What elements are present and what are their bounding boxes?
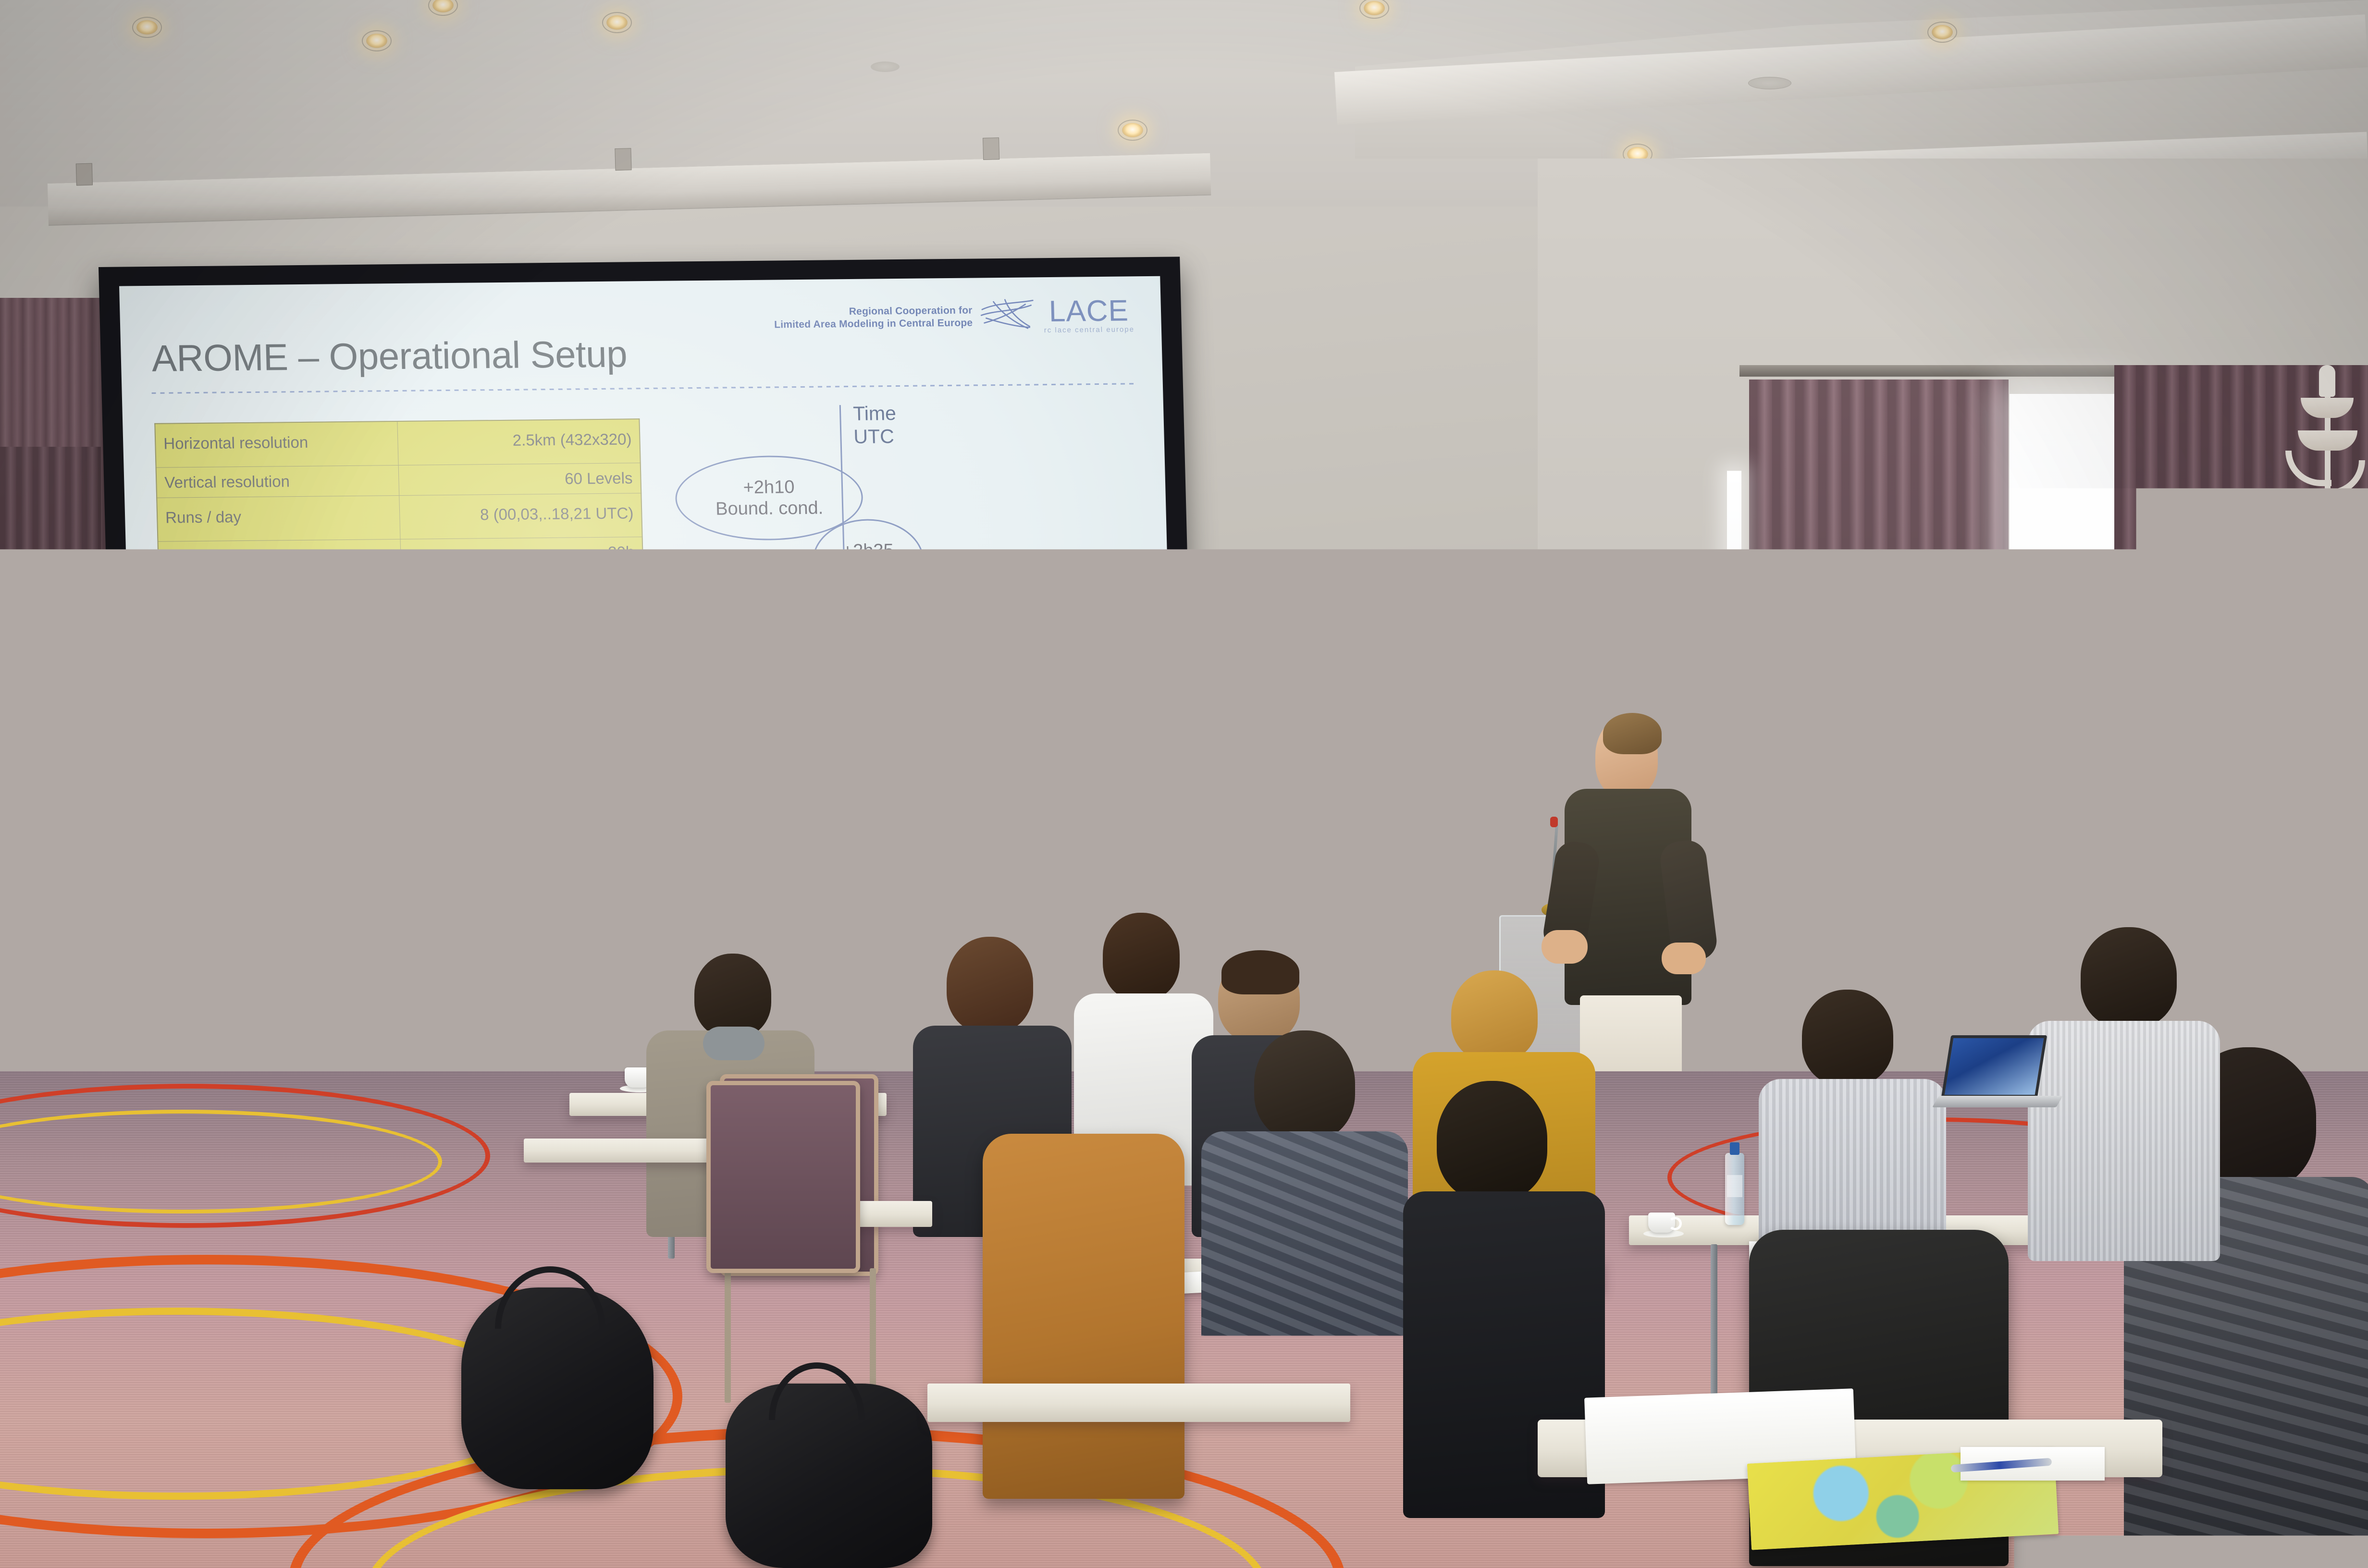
slide: Regional Cooperation for Limited Area Mo… [119, 276, 1177, 961]
spec-value: 30h [400, 537, 643, 570]
specs-table-body: Horizontal resolution 2.5km (432x320) Ve… [155, 419, 647, 723]
presenter-hand [1542, 930, 1588, 964]
person-head [2081, 927, 2177, 1028]
node-label: DA [774, 612, 800, 634]
table-row: Assimilation 3DVAR / OI [161, 688, 647, 723]
person-head [1437, 1081, 1547, 1201]
laptop-screen [1941, 1035, 2047, 1098]
footer-divider [164, 891, 1148, 902]
node-time: +2h10 [743, 477, 795, 498]
person-collar [703, 1027, 765, 1060]
node-label: Bound. cond. [715, 497, 824, 519]
ceiling-downlight [432, 0, 454, 12]
screen-bracket [983, 137, 999, 160]
lace-wordmark: LACE [1048, 297, 1129, 325]
table-row: Coupling update 3h or 1h [161, 658, 646, 693]
audience-table [927, 1384, 1350, 1422]
person-head [947, 937, 1033, 1033]
event-title: 24th ALADIN Workshop & HIRLAM All Staff … [234, 906, 481, 948]
person-hair [1221, 950, 1299, 994]
lace-tagline-line1: Regional Cooperation for [774, 305, 973, 319]
chandelier-bowl [2301, 398, 2354, 418]
event-title-line1: 24th ALADIN Workshop & HIRLAM [234, 907, 481, 927]
chair-leg [725, 1268, 731, 1403]
spec-key: Vertical resolution [156, 465, 399, 498]
ceiling-downlight [1122, 123, 1143, 137]
drawer-handle[interactable] [1778, 891, 1836, 894]
presenter-hair [1603, 713, 1662, 754]
exit-running-man-icon [1587, 593, 1599, 609]
laptop-open[interactable] [1946, 1035, 2057, 1107]
lace-logo-tagline: Regional Cooperation for Limited Area Mo… [774, 305, 973, 331]
spec-key: Horizontal resolution [155, 421, 398, 467]
chandelier-arm [2319, 460, 2365, 496]
node-time: +2h35 [842, 540, 894, 562]
title-divider [152, 383, 1136, 394]
table-row: Vertical resolution 60 Levels [156, 463, 641, 498]
spec-key: Coupling model [160, 630, 403, 662]
person-head [1254, 1030, 1355, 1141]
node-time: +2h45 [761, 591, 813, 612]
partner-logo-4-icon [985, 901, 1007, 923]
timeline-diagram: Time UTC +2h10 Bound. cond. +2h35 OBS +2… [670, 403, 1047, 858]
person-head [694, 954, 771, 1038]
projection-screen: Regional Cooperation for Limited Area Mo… [99, 257, 1198, 982]
spec-value: 2.5km (432x320) [397, 419, 640, 465]
spec-key: Coupling update [161, 660, 404, 693]
ceiling-downlight [1932, 25, 1953, 39]
ceiling-downlight [136, 20, 158, 35]
spec-key: Forecast Range [158, 539, 401, 572]
antenna-icon [1828, 814, 1830, 841]
partner-logo-1-icon [884, 902, 906, 924]
ceiling-vent [1748, 77, 1791, 89]
event-title-line2: All Staff Meeting 2014, Bucharest [234, 927, 470, 947]
spec-value: 60 Levels [398, 463, 641, 496]
node-label: Integration [865, 666, 952, 688]
laptop-keyboard[interactable] [1932, 1096, 2063, 1107]
person-head [1103, 913, 1180, 1000]
table-row: Runs / day 8 (00,03,..18,21 UTC) [157, 493, 642, 542]
water-bottle[interactable] [1725, 1153, 1744, 1225]
play-triangle-icon [165, 914, 178, 930]
smoke-detector-icon [871, 61, 900, 72]
audience-chair[interactable] [706, 1081, 860, 1273]
partner-logo-2-icon [917, 902, 940, 924]
person-head [1451, 970, 1538, 1062]
chandelier-candle [2319, 365, 2335, 397]
screen-bracket [615, 148, 631, 171]
chandelier-bowl [2298, 430, 2357, 451]
spec-value: 8 (00,03,..18,21 UTC) [399, 493, 642, 539]
antenna-icon [1788, 818, 1790, 845]
drawer-handle[interactable] [1778, 944, 1836, 948]
slide-title: AROME – Operational Setup [151, 332, 628, 380]
wireless-receiver-unit[interactable] [1719, 842, 1811, 858]
specs-table: Horizontal resolution 2.5km (432x320) Ve… [154, 418, 647, 723]
spec-key: Output-Frequency [159, 569, 402, 602]
presenter-hand [1662, 943, 1706, 974]
camera-lens [2214, 676, 2368, 729]
screen-bracket [76, 163, 93, 186]
svg-text:SHMU: SHMU [953, 906, 972, 913]
table-row: Coupling model IFS (ECMWF) [160, 628, 645, 663]
table-row: Horizontal resolution 2.5km (432x320) [155, 419, 640, 467]
ceiling-downlight [1364, 1, 1385, 15]
spec-value: 1/h [401, 567, 644, 600]
spec-value: IFS (ECMWF) [402, 628, 645, 661]
partner-logo-5-icon [1018, 901, 1041, 923]
ceiling-downlight [366, 34, 387, 48]
cabinet-drawer[interactable] [1704, 873, 1910, 914]
rack-led-icon [1738, 847, 1751, 853]
timeline-axis-label-line2: UTC [853, 425, 897, 448]
tripod-leg [2270, 770, 2319, 1037]
coffee-cup[interactable] [1648, 1213, 1675, 1233]
rack-led-icon [1738, 866, 1751, 872]
emergency-exit-icon [1566, 587, 1610, 615]
node-label: OBS [849, 561, 888, 583]
jacket-on-chair [983, 1134, 1184, 1499]
timeline-arrow-icon [843, 811, 859, 826]
table-row: Model time step 60sec [160, 598, 645, 633]
conference-room-scene: Regional Cooperation for Limited Area Mo… [0, 0, 2368, 1568]
rack-led-icon [1723, 847, 1736, 853]
wall-chandelier [2287, 370, 2368, 514]
wireless-receiver-unit[interactable] [1822, 858, 1885, 874]
lace-logo: Regional Cooperation for Limited Area Mo… [774, 297, 1135, 337]
spec-value: 3h or 1h [403, 658, 646, 691]
spec-key: Assimilation [161, 690, 405, 723]
node-time: +3h 10 [751, 704, 807, 726]
microphone-icon [1550, 817, 1558, 827]
rack-led-icon [1826, 863, 1830, 870]
timeline-axis-label-line1: Time [853, 402, 897, 425]
node-time: +3h [892, 645, 924, 667]
node-label: Grib conv. [738, 725, 820, 747]
rack-led-icon [1723, 866, 1736, 872]
table-leg [975, 1417, 982, 1568]
camera-lcd-screen [2230, 649, 2276, 674]
table-row: Output-Frequency 1/h [159, 567, 644, 602]
lace-logo-subtext: rc lace central europe [1044, 325, 1135, 334]
table-leg [1711, 1244, 1717, 1403]
timeline-axis-label: Time UTC [853, 402, 897, 449]
wireless-receiver-unit[interactable] [1719, 861, 1811, 877]
ceiling-downlight [606, 15, 628, 30]
projection-screen-surface: Regional Cooperation for Limited Area Mo… [119, 276, 1177, 961]
spec-value: 3DVAR / OI [404, 688, 647, 721]
timeline-node-integration: +3h Integration [815, 625, 1000, 708]
spec-value: 60sec [402, 598, 645, 630]
slide-number: 4 [191, 908, 202, 930]
person-head [1802, 990, 1893, 1086]
partner-logo-shmu-icon: SHMU [951, 901, 974, 923]
cabinet-drawer[interactable] [1704, 927, 1910, 968]
table-row: Forecast Range 30h [158, 537, 643, 572]
antenna-icon [1752, 816, 1754, 843]
lace-globe-icon [979, 299, 1037, 335]
person-torso [2028, 1021, 2220, 1261]
spec-key: Runs / day [157, 495, 400, 541]
lace-tagline-line2: Limited Area Modeling in Central Europe [774, 317, 973, 331]
timeline-node-grib-conv: +3h 10 Grib conv. [688, 684, 870, 768]
svg-text:ROMANIA: ROMANIA [1114, 905, 1136, 910]
spec-key: Model time step [160, 600, 403, 632]
window-light-sliver [1727, 471, 1741, 797]
